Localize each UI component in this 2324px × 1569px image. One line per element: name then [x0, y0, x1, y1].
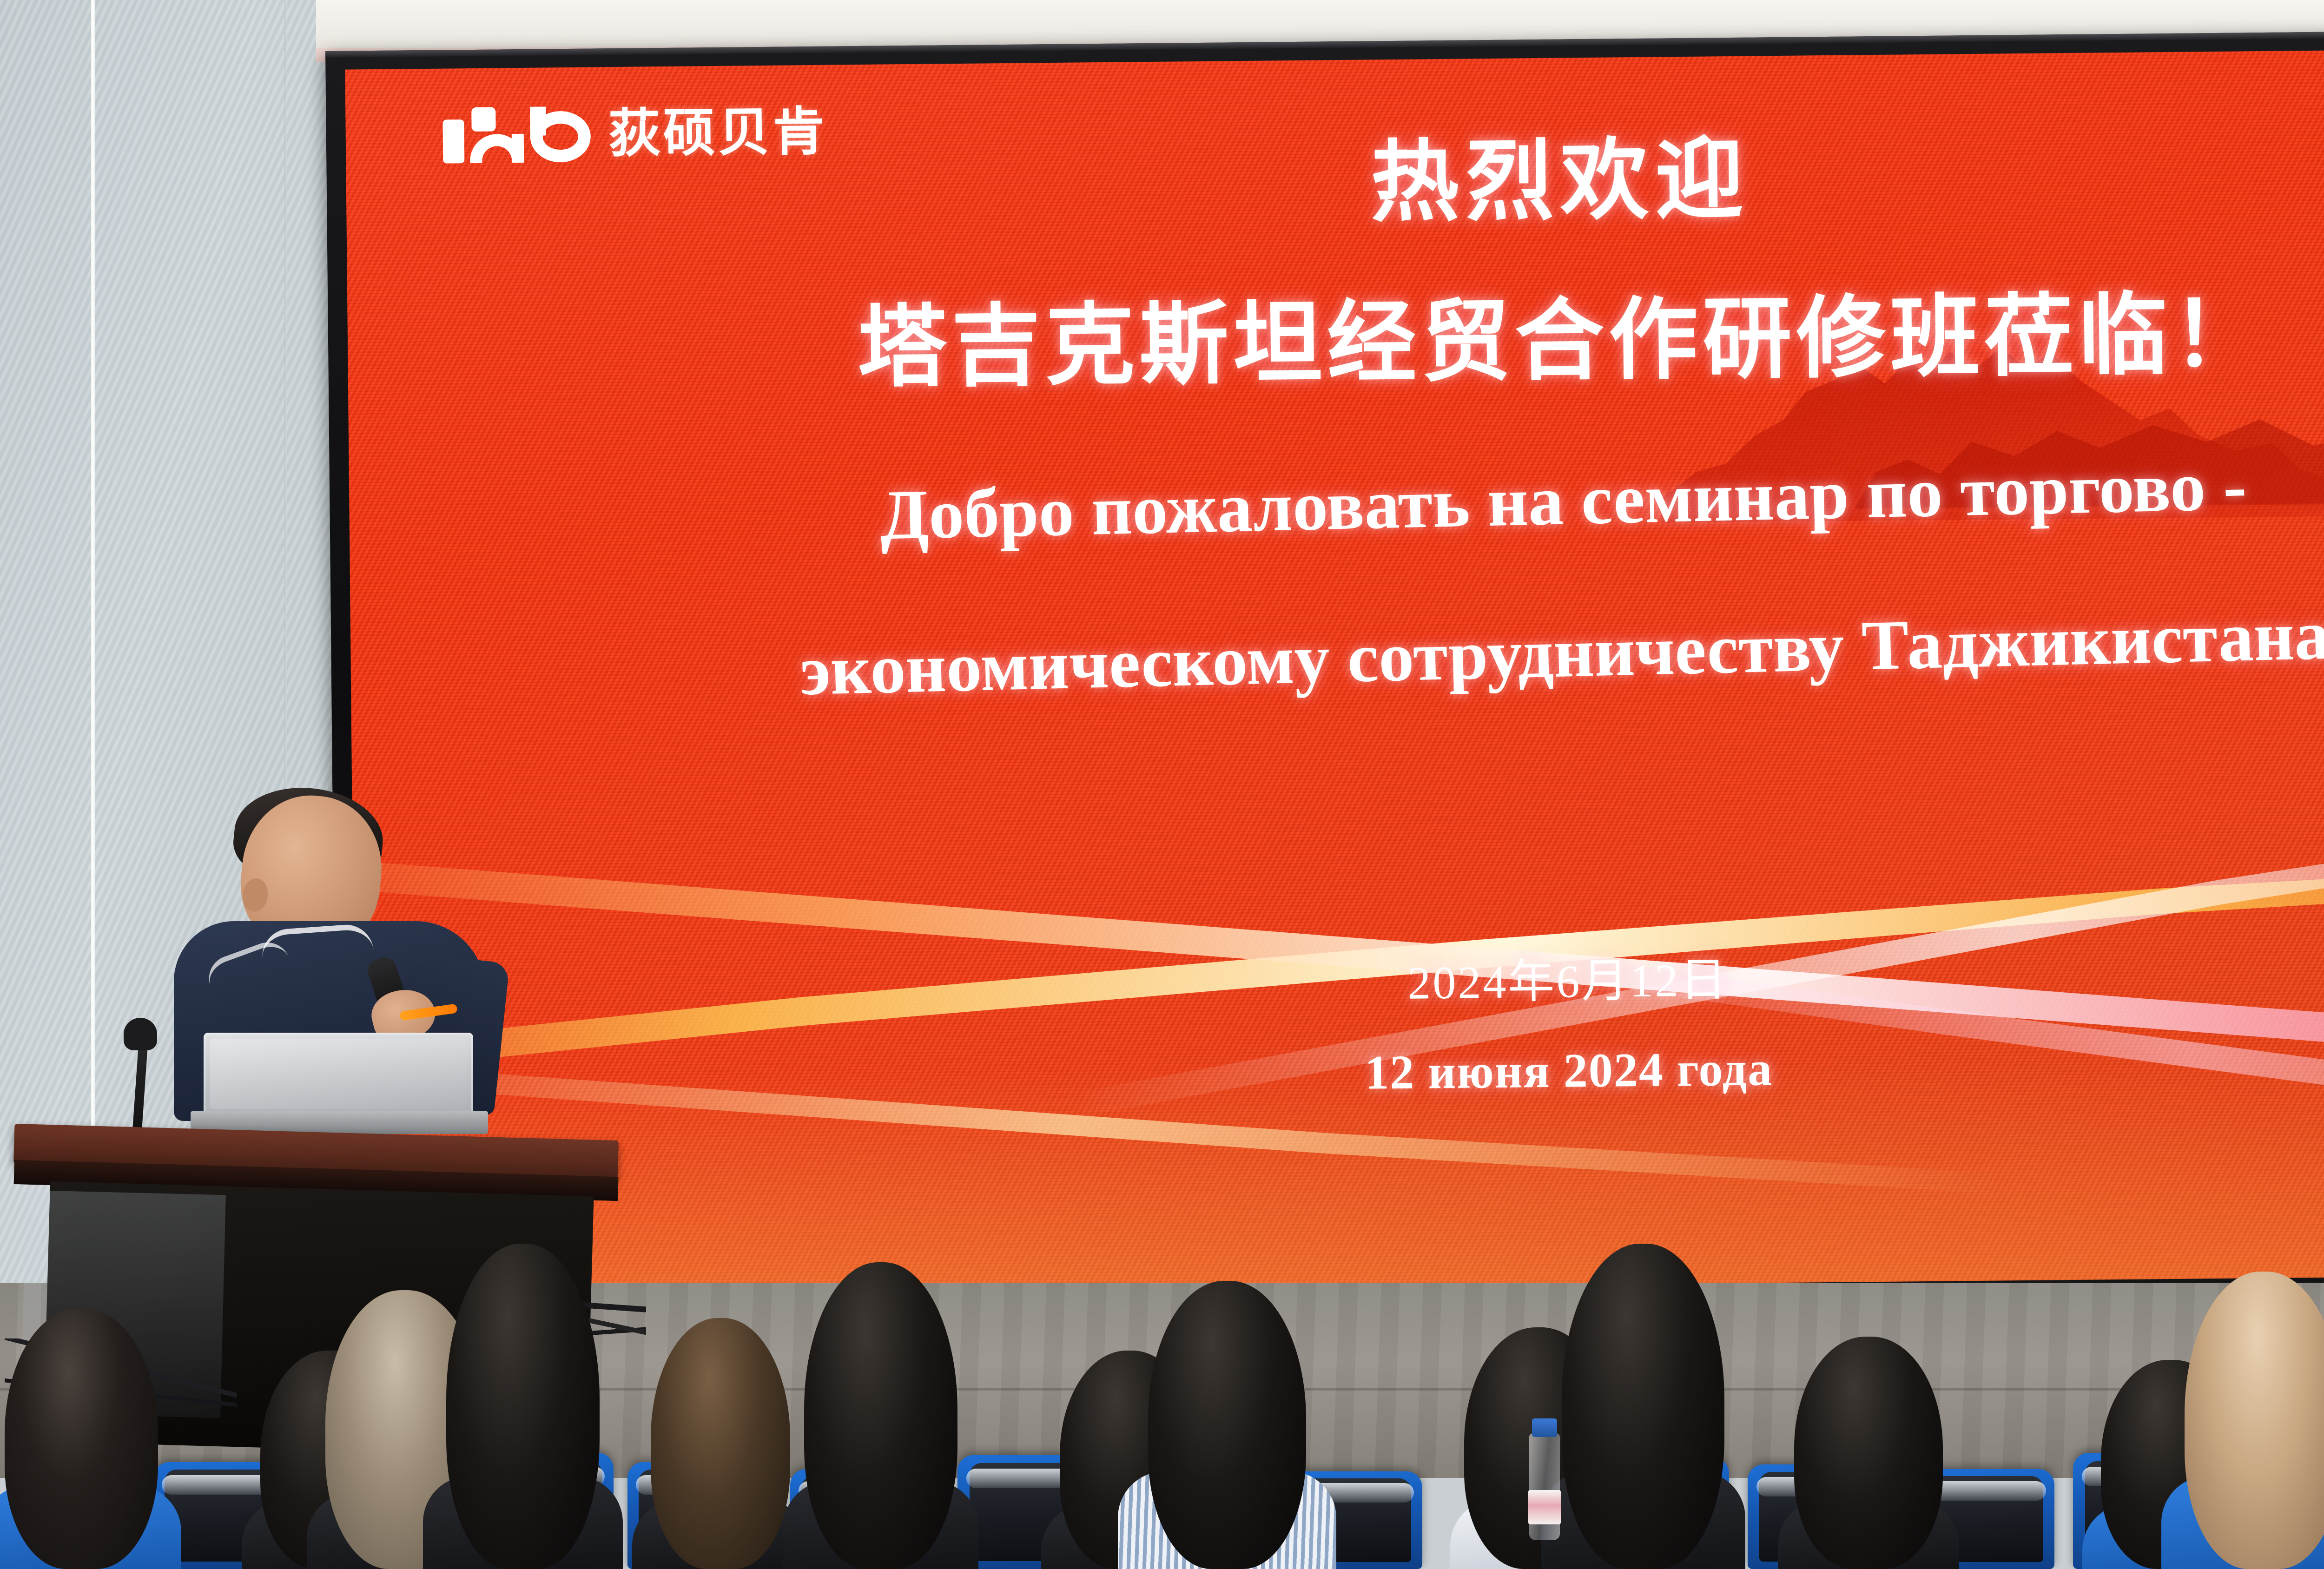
audience-person-head [2185, 1272, 2324, 1569]
headline-russian-line-1: Добро пожаловать на семинар по торгово - [349, 439, 2324, 562]
slide-content: 热烈欢迎 塔吉克斯坦经贸合作研修班莅临！ Добро пожаловать на… [345, 46, 2324, 1296]
microphone-head-icon [124, 1018, 157, 1050]
headline-russian-line-2: экономическому сотрудничеству Таджикиста… [350, 589, 2324, 717]
water-bottle-cap [1532, 1418, 1557, 1437]
laptop-screen-reflection [210, 1039, 467, 1109]
audience-person-head [1562, 1244, 1724, 1569]
audience-person-head [1794, 1337, 1943, 1569]
date-chinese: 2024年6月12日 [354, 947, 2324, 1016]
water-bottle-label [1528, 1490, 1561, 1524]
audience-person-head [446, 1244, 600, 1569]
date-russian: 12 июня 2024 года [355, 1035, 2324, 1107]
screenshot-root: 荻硕贝肯 热烈欢迎 塔吉克斯坦经贸合作研修班莅临！ Добро пожалова… [0, 0, 2324, 1569]
audience-area [0, 1115, 2324, 1569]
screen-surface: 荻硕贝肯 热烈欢迎 塔吉克斯坦经贸合作研修班莅临！ Добро пожалова… [345, 46, 2324, 1296]
headline-chinese-primary: 热烈欢迎 [346, 126, 2324, 237]
audience-person-head [1148, 1281, 1306, 1569]
headline-chinese-secondary: 塔吉克斯坦经贸合作研修班莅临！ [347, 285, 2324, 398]
audience-person-head [804, 1262, 957, 1569]
audience-person-head [5, 1309, 158, 1569]
audience-person-head [651, 1318, 790, 1569]
